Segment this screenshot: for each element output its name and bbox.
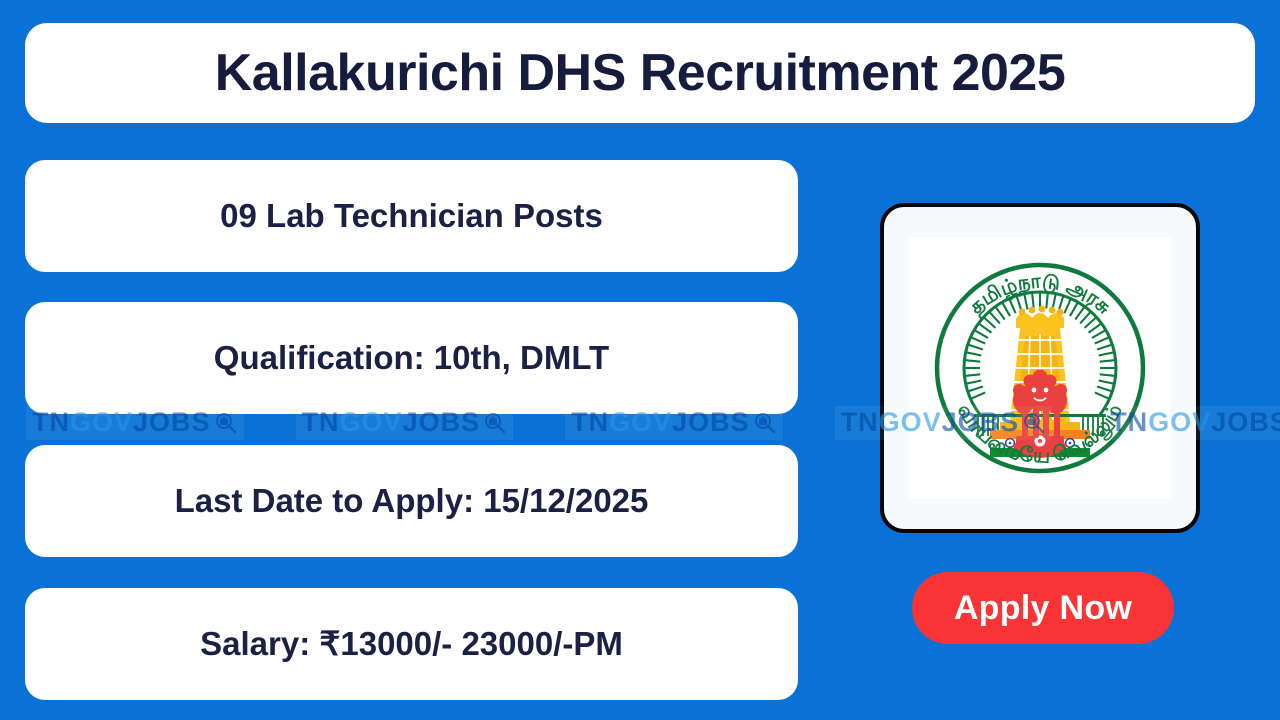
detail-card-vacancy: 09 Lab Technician Posts: [25, 160, 798, 272]
title-card: Kallakurichi DHS Recruitment 2025: [25, 23, 1255, 123]
detail-text-qualification: Qualification: 10th, DMLT: [214, 340, 609, 376]
briefcase-search-icon: [214, 411, 238, 435]
detail-card-last-date: Last Date to Apply: 15/12/2025: [25, 445, 798, 557]
detail-text-last-date: Last Date to Apply: 15/12/2025: [175, 483, 649, 519]
detail-text-salary: Salary: ₹13000/- 23000/-PM: [200, 626, 623, 662]
detail-card-qualification: Qualification: 10th, DMLT: [25, 302, 798, 414]
briefcase-search-icon: [483, 411, 507, 435]
recruitment-poster: Kallakurichi DHS Recruitment 2025 09 Lab…: [0, 0, 1280, 720]
page-title: Kallakurichi DHS Recruitment 2025: [215, 46, 1066, 101]
watermark-tn: TN: [841, 409, 879, 436]
tamil-nadu-emblem-icon: தமிழ்நாடு அரசு: [909, 237, 1171, 499]
briefcase-search-icon: [753, 411, 777, 435]
detail-card-salary: Salary: ₹13000/- 23000/-PM: [25, 588, 798, 700]
apply-now-button[interactable]: Apply Now: [912, 572, 1174, 644]
watermark-jobs: JOBS: [1211, 409, 1280, 436]
detail-text-vacancy: 09 Lab Technician Posts: [220, 198, 603, 234]
logo-panel: தமிழ்நாடு அரசு: [880, 203, 1200, 533]
